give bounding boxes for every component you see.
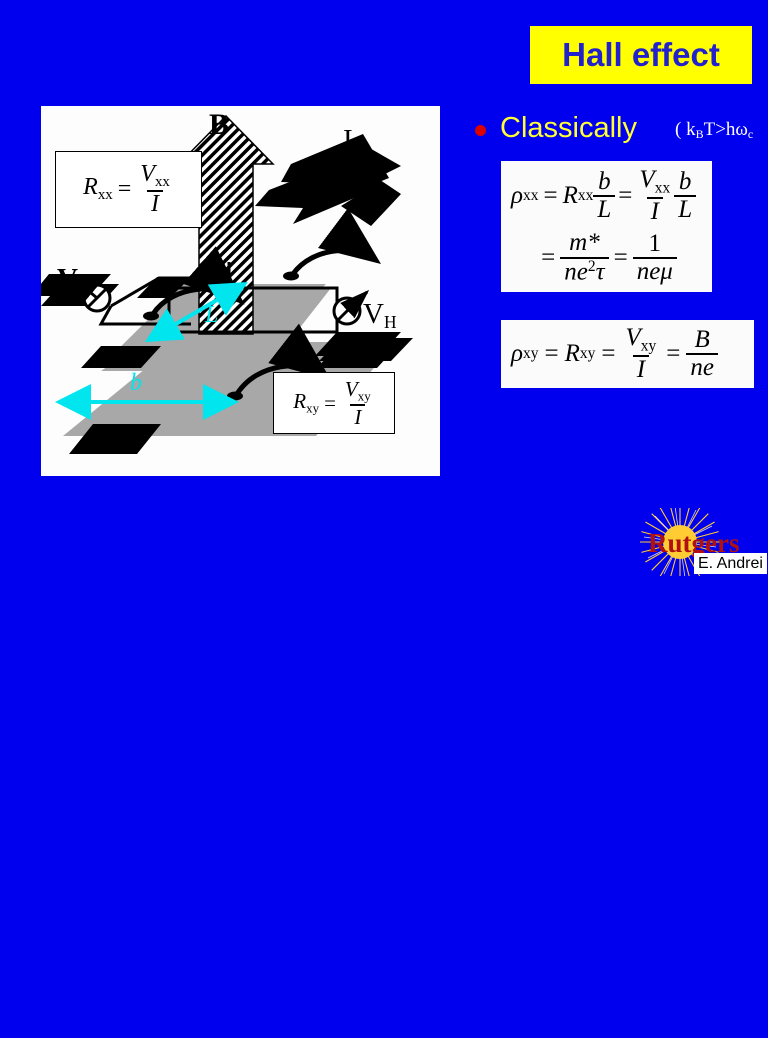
eq-sign-xy-2: =	[595, 340, 621, 368]
condition-sub-c: c	[748, 127, 753, 141]
eq-sign-4: =	[609, 244, 633, 272]
eq-sign-1: =	[539, 182, 563, 210]
fracxy1-denominator: I	[633, 355, 649, 383]
eq-sign-2: =	[615, 182, 635, 210]
equation-rho-xy-line1: ρxy = Rxy = Vxy I = B ne	[501, 320, 754, 388]
rho-xy-subscript: xy	[523, 345, 539, 363]
fraction-B-over-ne: B ne	[686, 327, 718, 382]
R-xx-symbol: R	[563, 182, 578, 210]
fracxy1-num-sub: xy	[641, 337, 657, 354]
rho-xx-subscript: xx	[523, 187, 539, 205]
bullet-condition: ( kBT>hωc	[675, 119, 753, 142]
frac2-denominator: I	[647, 197, 663, 225]
equation-panel-rho-xx: ρxx = Rxx b L = Vxx I b L = m* ne2τ = 1 …	[501, 161, 712, 292]
label-VH-sub: H	[384, 312, 397, 332]
condition-prefix: ( k	[675, 119, 696, 140]
eq-sign-xy-1: =	[539, 340, 565, 368]
fracxy2-denominator: ne	[686, 353, 718, 381]
fracxy1-num-V: V	[626, 324, 641, 351]
fraction-b-over-L-2: b L	[674, 169, 696, 224]
bullet-dot-icon	[475, 125, 486, 136]
frac4-den-exponent: 2	[588, 258, 596, 275]
frac5-numerator: 1	[645, 231, 666, 257]
frac1-numerator: b	[594, 169, 615, 195]
frac2-num-sub: xx	[655, 179, 671, 196]
fraction-Vxx-over-I: Vxx I	[635, 167, 674, 225]
author-name: E. Andrei	[694, 553, 767, 574]
box-rxy-num: Vxy	[341, 378, 375, 403]
fraction-b-over-L: b L	[593, 169, 615, 224]
box-rxx-eq: =	[118, 176, 132, 203]
label-width-b: b	[130, 370, 142, 397]
condition-sub-b: B	[696, 127, 704, 141]
box-rxx-R: R	[83, 174, 98, 200]
frac4-denominator: ne2τ	[560, 257, 608, 286]
equation-panel-rho-xy: ρxy = Rxy = Vxy I = B ne	[501, 320, 754, 388]
formula-box-rxy: Rxy = Vxy I	[273, 372, 395, 434]
frac3-numerator: b	[675, 169, 696, 195]
label-current-I: I	[343, 124, 353, 157]
box-rxx-num: Vxx	[136, 162, 174, 191]
label-voltage-V: V	[57, 263, 78, 296]
box-rxx-den: I	[147, 190, 163, 217]
rho-xx-symbol: ρ	[511, 182, 523, 210]
equation-rho-xx-line2: = m* ne2τ = 1 neμ	[501, 227, 712, 289]
frac2-num-V: V	[639, 166, 654, 193]
box-rxx-R-sub: xx	[98, 188, 113, 204]
hall-effect-diagram: Rxx = Vxx I Rxy = Vxy I B I V VH L b	[41, 106, 440, 476]
fraction-1-over-nemu: 1 neμ	[633, 231, 677, 286]
slide-title-box: Hall effect	[530, 26, 752, 84]
eq-sign-xy-3: =	[660, 340, 686, 368]
frac1-denominator: L	[593, 195, 615, 223]
box-rxy-R: R	[293, 389, 306, 413]
fraction-Vxy-over-I: Vxy I	[622, 325, 661, 383]
frac4-den-ne: ne	[564, 258, 588, 285]
label-length-L: L	[205, 302, 218, 329]
current-arrow-I	[255, 134, 401, 226]
formula-box-rxx: Rxx = Vxx I	[55, 151, 202, 228]
box-rxx-num-V: V	[140, 161, 155, 187]
box-rxy-den: I	[350, 404, 365, 428]
R-xx-subscript: xx	[578, 187, 594, 205]
box-rxy-R-sub: xy	[306, 401, 319, 416]
box-rxx-num-sub: xx	[155, 174, 170, 190]
label-hall-voltage-VH: VH	[363, 298, 397, 333]
eq-sign-3: =	[536, 244, 560, 272]
frac5-denominator: neμ	[633, 257, 677, 285]
frac4-numerator: m*	[565, 230, 604, 256]
R-xy-subscript: xy	[580, 345, 596, 363]
fracxy2-numerator: B	[691, 327, 714, 353]
R-xy-symbol: R	[565, 340, 580, 368]
frac3-denominator: L	[674, 195, 696, 223]
label-VH-main: V	[363, 298, 384, 330]
frac2-numerator: Vxx	[635, 167, 674, 197]
label-magnetic-field-B: B	[209, 108, 229, 142]
fraction-mstar-over-ne2tau: m* ne2τ	[560, 230, 608, 285]
box-rxy-eq: =	[324, 391, 336, 416]
fracxy1-numerator: Vxy	[622, 325, 661, 355]
frac4-den-tau: τ	[596, 258, 605, 285]
bullet-label: Classically	[500, 112, 637, 145]
box-rxy-fraction: Vxy I	[341, 378, 375, 427]
box-rxx-fraction: Vxx I	[136, 162, 174, 218]
bullet-row: Classically ( kBT>hωc	[470, 112, 768, 154]
box-rxy-num-sub: xy	[358, 389, 371, 404]
rho-xy-symbol: ρ	[511, 340, 523, 368]
equation-rho-xx-line1: ρxx = Rxx b L = Vxx I b L	[501, 165, 712, 227]
page-title: Hall effect	[562, 36, 720, 74]
box-rxy-num-V: V	[345, 377, 358, 401]
condition-mid: T>hω	[704, 119, 748, 140]
